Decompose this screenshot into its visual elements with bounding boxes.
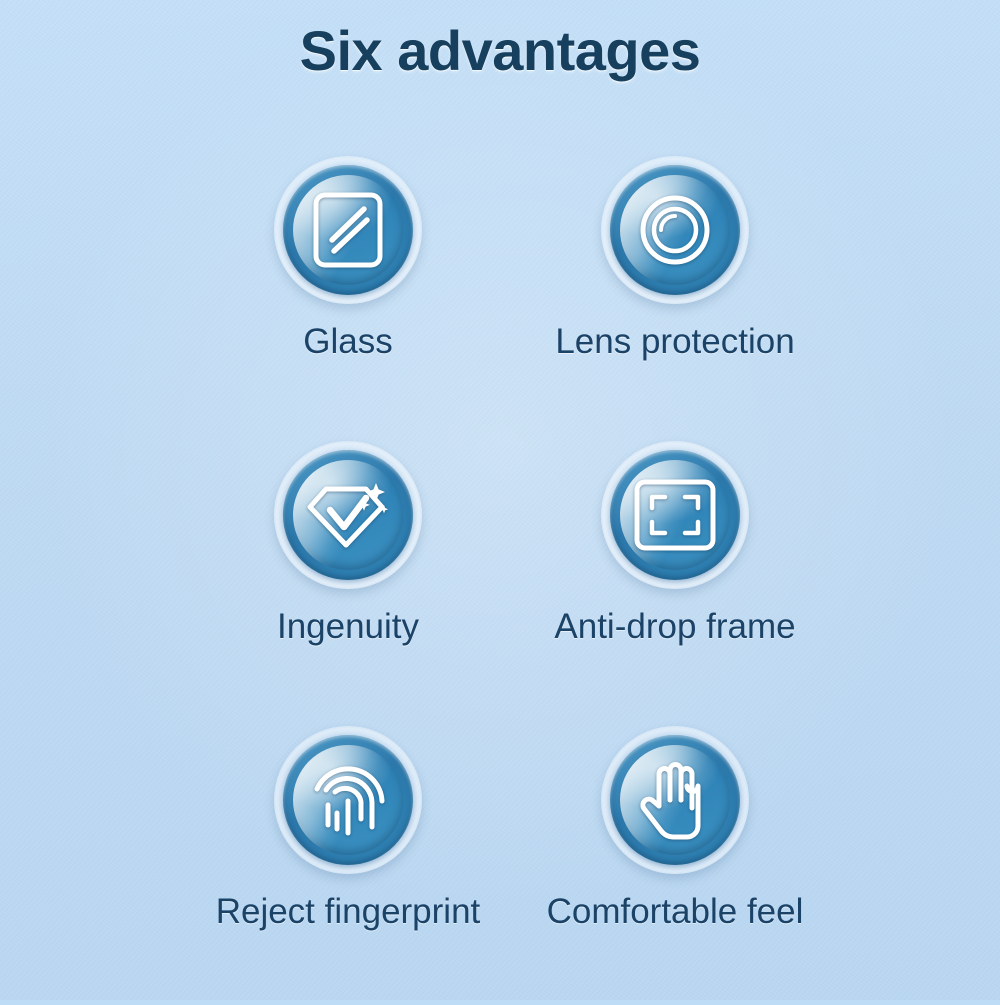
glass-screen-protector-icon xyxy=(274,156,422,304)
badge-wrapper xyxy=(475,435,875,595)
advantage-label: Anti-drop frame xyxy=(475,607,875,647)
camera-lens-icon xyxy=(601,156,749,304)
advantage-badge[interactable] xyxy=(274,156,422,304)
advantage-badge[interactable] xyxy=(601,441,749,589)
advantages-row: Glass xyxy=(0,150,1000,435)
advantage-badge[interactable] xyxy=(274,441,422,589)
fingerprint-icon xyxy=(274,726,422,874)
advantage-item-comfortable-feel[interactable]: Comfortable feel xyxy=(475,720,875,932)
advantage-label: Comfortable feel xyxy=(475,892,875,932)
advantage-item-anti-drop-frame[interactable]: Anti-drop frame xyxy=(475,435,875,647)
advantage-badge[interactable] xyxy=(274,726,422,874)
advantage-item-lens-protection[interactable]: Lens protection xyxy=(475,150,875,362)
advantage-badge[interactable] xyxy=(601,156,749,304)
open-hand-icon xyxy=(601,726,749,874)
page-title: Six advantages xyxy=(0,20,1000,82)
advantages-grid: Glass xyxy=(0,150,1000,1005)
advantage-badge[interactable] xyxy=(601,726,749,874)
diamond-check-sparkle-icon xyxy=(274,441,422,589)
advantage-label: Lens protection xyxy=(475,322,875,362)
frame-corners-icon xyxy=(601,441,749,589)
badge-wrapper xyxy=(475,720,875,880)
advantages-row: Ingenuity xyxy=(0,435,1000,720)
advantages-row: Reject fingerprint xyxy=(0,720,1000,1005)
badge-wrapper xyxy=(475,150,875,310)
